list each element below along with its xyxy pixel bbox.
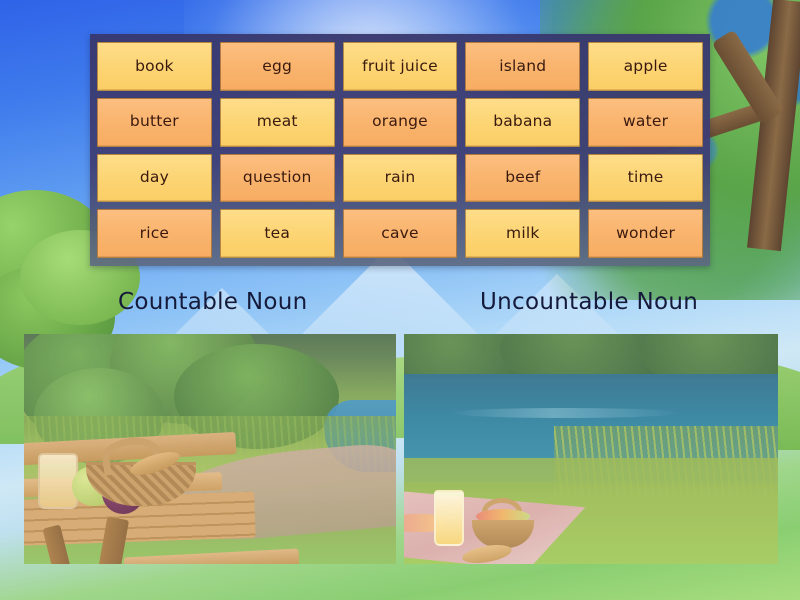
- word-tile-label: wonder: [616, 226, 675, 242]
- picnic-bench: [124, 548, 300, 564]
- word-tile[interactable]: rice: [97, 209, 212, 258]
- word-tile-label: butter: [130, 114, 179, 130]
- category-label-countable: Countable Noun: [118, 289, 307, 315]
- word-tile-label: apple: [624, 59, 668, 75]
- word-tile-label: water: [623, 114, 668, 130]
- word-tile-label: meat: [257, 114, 298, 130]
- word-tile-label: cave: [381, 226, 419, 242]
- category-label-uncountable: Uncountable Noun: [480, 289, 698, 315]
- word-tile-label: time: [628, 170, 664, 186]
- tree-trunk-icon: [747, 0, 800, 251]
- word-tile-label: book: [135, 59, 174, 75]
- word-tile[interactable]: milk: [465, 209, 580, 258]
- dropzone-uncountable[interactable]: [404, 334, 778, 564]
- word-tile-label: rain: [385, 170, 416, 186]
- word-tile[interactable]: cave: [343, 209, 458, 258]
- word-tile[interactable]: tea: [220, 209, 335, 258]
- word-tile[interactable]: rain: [343, 154, 458, 203]
- word-tile-label: milk: [506, 226, 540, 242]
- word-tile-label: beef: [505, 170, 540, 186]
- word-tile-label: island: [499, 59, 546, 75]
- word-tile-label: rice: [140, 226, 170, 242]
- word-tile[interactable]: orange: [343, 98, 458, 147]
- dropzone-countable[interactable]: [24, 334, 396, 564]
- word-tile-label: babana: [493, 114, 552, 130]
- water-reflection: [449, 408, 681, 418]
- word-tile[interactable]: day: [97, 154, 212, 203]
- word-tile[interactable]: meat: [220, 98, 335, 147]
- word-tile[interactable]: water: [588, 98, 703, 147]
- word-tile-panel: book egg fruit juice island apple butter…: [90, 34, 710, 266]
- word-tile[interactable]: time: [588, 154, 703, 203]
- game-stage: book egg fruit juice island apple butter…: [0, 0, 800, 600]
- word-tile[interactable]: beef: [465, 154, 580, 203]
- word-tile-label: egg: [262, 59, 292, 75]
- word-tile-label: tea: [264, 226, 290, 242]
- word-tile[interactable]: island: [465, 42, 580, 91]
- word-tile-label: question: [243, 170, 312, 186]
- word-tile-label: fruit juice: [362, 59, 438, 75]
- word-tile[interactable]: egg: [220, 42, 335, 91]
- word-tile-label: orange: [372, 114, 428, 130]
- word-tile[interactable]: wonder: [588, 209, 703, 258]
- lakeside-picnic-scene: [404, 334, 778, 564]
- word-tile[interactable]: babana: [465, 98, 580, 147]
- picnic-table-scene: [24, 334, 396, 564]
- word-tile[interactable]: butter: [97, 98, 212, 147]
- juice-glass-icon: [434, 490, 464, 546]
- word-tile[interactable]: fruit juice: [343, 42, 458, 91]
- word-tile[interactable]: question: [220, 154, 335, 203]
- word-tile[interactable]: apple: [588, 42, 703, 91]
- word-tile-label: day: [140, 170, 169, 186]
- word-tile[interactable]: book: [97, 42, 212, 91]
- tree-branch-icon: [712, 29, 785, 124]
